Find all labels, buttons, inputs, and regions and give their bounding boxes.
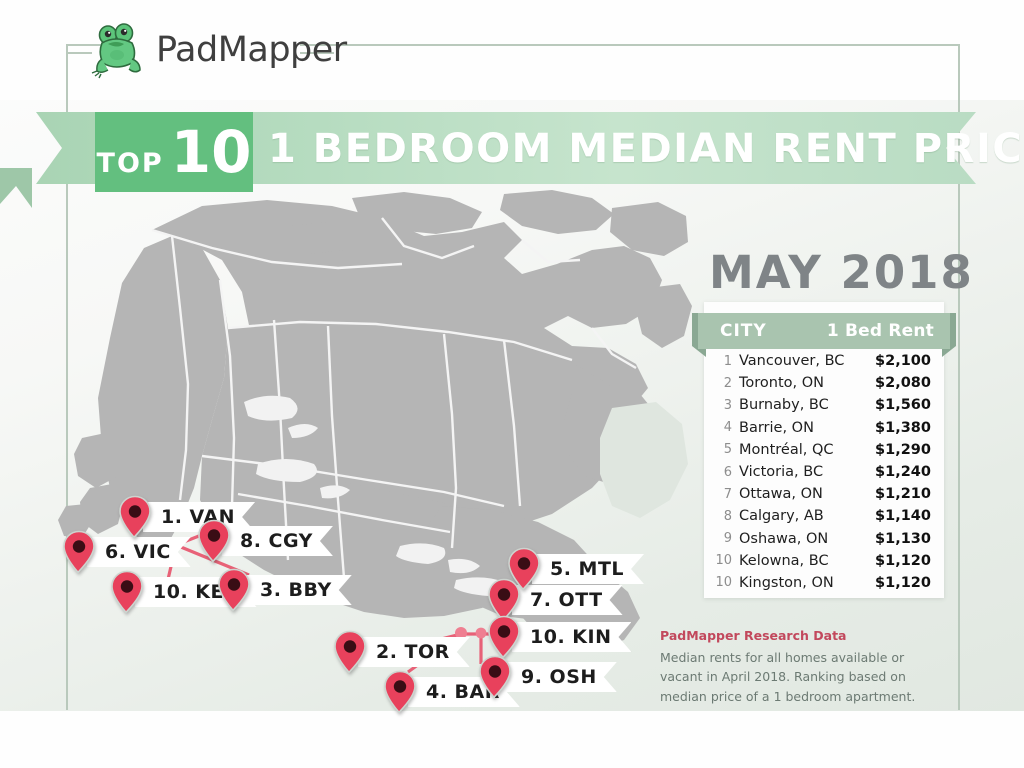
row-city: Kingston, ON bbox=[739, 575, 834, 591]
map-pin-icon bbox=[333, 630, 367, 674]
map-pin-icon bbox=[197, 519, 231, 563]
row-rank: 5 bbox=[704, 442, 739, 457]
period-title: MAY 2018 bbox=[709, 246, 974, 299]
row-city: Victoria, BC bbox=[739, 464, 823, 480]
map-pin-icon bbox=[217, 568, 251, 612]
map-pin-icon bbox=[62, 530, 96, 574]
map-marker-label: 3. BBY bbox=[242, 575, 352, 605]
map-pin-icon bbox=[110, 570, 144, 614]
page-title: 1 BEDROOM MEDIAN RENT PRICES bbox=[268, 120, 948, 178]
map-marker-label: 9. OSH bbox=[503, 662, 617, 692]
row-rank: 8 bbox=[704, 509, 739, 524]
row-rent: $1,240 bbox=[875, 464, 931, 480]
row-city: Toronto, ON bbox=[739, 375, 824, 391]
table-row: 7Ottawa, ON$1,210 bbox=[704, 483, 944, 505]
map-marker-osh[interactable]: 9. OSH bbox=[478, 655, 617, 699]
row-rank: 10 bbox=[704, 575, 739, 590]
brand-logo[interactable]: PadMapper bbox=[88, 17, 347, 83]
table-row: 1Vancouver, BC$2,100 bbox=[704, 350, 944, 372]
column-header-rent: 1 Bed Rent bbox=[827, 321, 934, 341]
map-pin-icon bbox=[487, 615, 521, 659]
row-rent: $1,140 bbox=[875, 508, 931, 524]
map-marker-cgy[interactable]: 8. CGY bbox=[197, 519, 333, 563]
map-marker-label: 10. KIN bbox=[512, 622, 631, 652]
top-label: TOP bbox=[97, 148, 164, 179]
row-rank: 6 bbox=[704, 465, 739, 480]
table-row: 10Kelowna, BC$1,120 bbox=[704, 550, 944, 572]
row-city: Montréal, QC bbox=[739, 442, 834, 458]
row-rent: $1,120 bbox=[875, 575, 931, 591]
row-rank: 4 bbox=[704, 420, 739, 435]
source-body: Median rents for all homes available or … bbox=[660, 648, 945, 706]
row-rent: $1,560 bbox=[875, 397, 931, 413]
row-rank: 3 bbox=[704, 398, 739, 413]
row-rank: 9 bbox=[704, 531, 739, 546]
table-row: 8Calgary, AB$1,140 bbox=[704, 505, 944, 527]
row-city: Oshawa, ON bbox=[739, 531, 828, 547]
row-city: Barrie, ON bbox=[739, 420, 814, 436]
row-rank: 7 bbox=[704, 487, 739, 502]
column-header-city: CITY bbox=[720, 321, 767, 341]
source-title: PadMapper Research Data bbox=[660, 628, 846, 643]
row-rent: $1,380 bbox=[875, 420, 931, 436]
row-rent: $1,210 bbox=[875, 486, 931, 502]
map-marker-label: 8. CGY bbox=[222, 526, 333, 556]
map-marker-bby[interactable]: 3. BBY bbox=[217, 568, 352, 612]
frog-icon bbox=[88, 19, 150, 81]
row-city: Ottawa, ON bbox=[739, 486, 823, 502]
map-marker-tor[interactable]: 2. TOR bbox=[333, 630, 470, 674]
rent-table-body: 1Vancouver, BC$2,1002Toronto, ON$2,0803B… bbox=[704, 350, 944, 594]
map-marker-label: 6. VIC bbox=[87, 537, 191, 567]
row-city: Burnaby, BC bbox=[739, 397, 829, 413]
table-row: 10Kingston, ON$1,120 bbox=[704, 572, 944, 594]
row-city: Vancouver, BC bbox=[739, 353, 844, 369]
table-row: 4Barrie, ON$1,380 bbox=[704, 417, 944, 439]
row-rent: $1,290 bbox=[875, 442, 931, 458]
row-city: Kelowna, BC bbox=[739, 553, 829, 569]
table-row: 2Toronto, ON$2,080 bbox=[704, 372, 944, 394]
map-marker-label: 2. TOR bbox=[358, 637, 470, 667]
row-city: Calgary, AB bbox=[739, 508, 824, 524]
row-rank: 1 bbox=[704, 354, 739, 369]
top-number: 10 bbox=[171, 123, 252, 181]
table-row: 5Montréal, QC$1,290 bbox=[704, 439, 944, 461]
table-row: 3Burnaby, BC$1,560 bbox=[704, 394, 944, 416]
rent-table-header: CITY 1 Bed Rent bbox=[692, 313, 956, 349]
table-row: 6Victoria, BC$1,240 bbox=[704, 461, 944, 483]
infographic-canvas: PadMapper TOP 10 1 BEDROOM MEDIAN RENT P… bbox=[0, 0, 1024, 768]
map-marker-kin[interactable]: 10. KIN bbox=[487, 615, 631, 659]
frame-line-top-right bbox=[300, 44, 960, 46]
row-rent: $1,130 bbox=[875, 531, 931, 547]
table-row: 9Oshawa, ON$1,130 bbox=[704, 528, 944, 550]
map-pin-icon bbox=[478, 655, 512, 699]
row-rent: $2,100 bbox=[875, 353, 931, 369]
brand-name: PadMapper bbox=[156, 30, 347, 70]
map-pin-icon bbox=[118, 495, 152, 539]
map-pin-icon bbox=[383, 670, 417, 714]
row-rank: 2 bbox=[704, 376, 739, 391]
row-rent: $1,120 bbox=[875, 553, 931, 569]
row-rent: $2,080 bbox=[875, 375, 931, 391]
row-rank: 10 bbox=[704, 553, 739, 568]
background-footer-strip bbox=[0, 711, 1024, 768]
top-ten-badge: TOP 10 bbox=[95, 112, 253, 192]
